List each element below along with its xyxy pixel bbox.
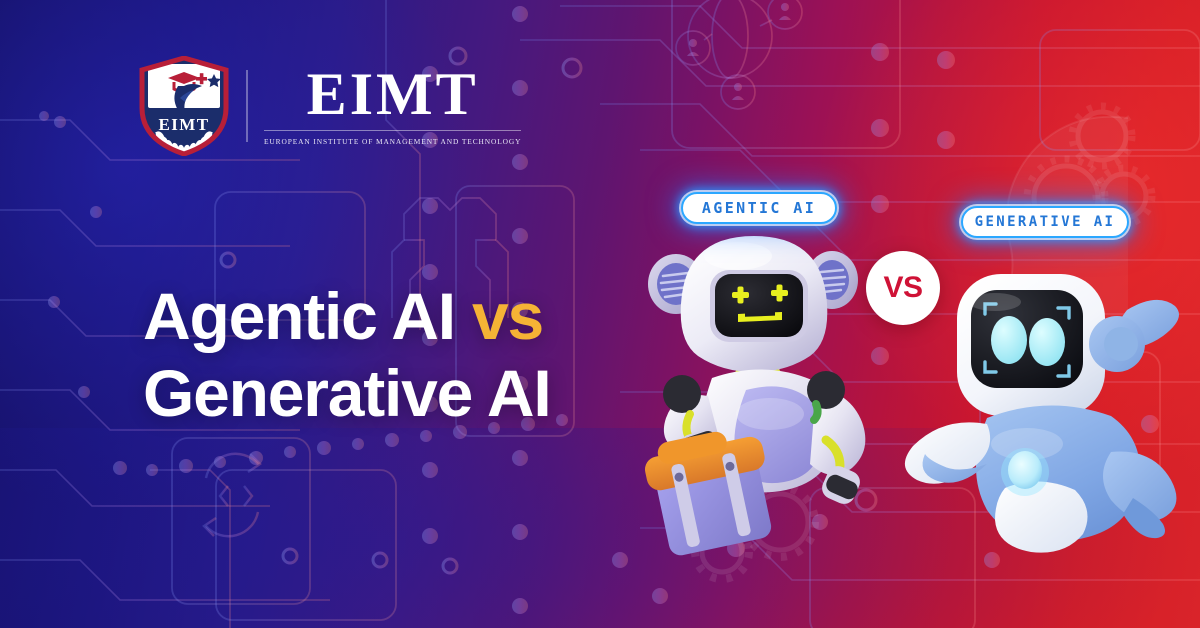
title-line-1: Agentic AI vs [143,278,550,355]
logo-tagline: EUROPEAN INSTITUTE OF MANAGEMENT AND TEC… [264,130,521,146]
svg-text:EIMT: EIMT [159,115,210,134]
badge-agentic-ai[interactable]: AGENTIC AI [681,192,837,224]
eimt-logo[interactable]: EIMT [138,56,521,156]
page-title: Agentic AI vs Generative AI [143,278,550,431]
vs-label: VS [883,271,922,305]
badge-agentic-label: AGENTIC AI [702,199,816,217]
logo-wordmark: EIMT EUROPEAN INSTITUTE OF MANAGEMENT AN… [264,66,521,146]
generative-ai-robot [895,248,1200,568]
logo-divider [246,70,248,142]
logo-wordmark-text: EIMT [307,66,479,123]
title-part-agentic: Agentic AI [143,279,472,353]
shield-icon: EIMT [138,56,230,156]
vs-badge: VS [866,251,940,325]
badge-generative-ai[interactable]: GENERATIVE AI [961,206,1129,238]
badge-generative-label: GENERATIVE AI [975,214,1116,230]
title-line-2: Generative AI [143,355,550,432]
title-part-vs: vs [472,279,543,353]
banner-root: EIMT [0,0,1200,628]
